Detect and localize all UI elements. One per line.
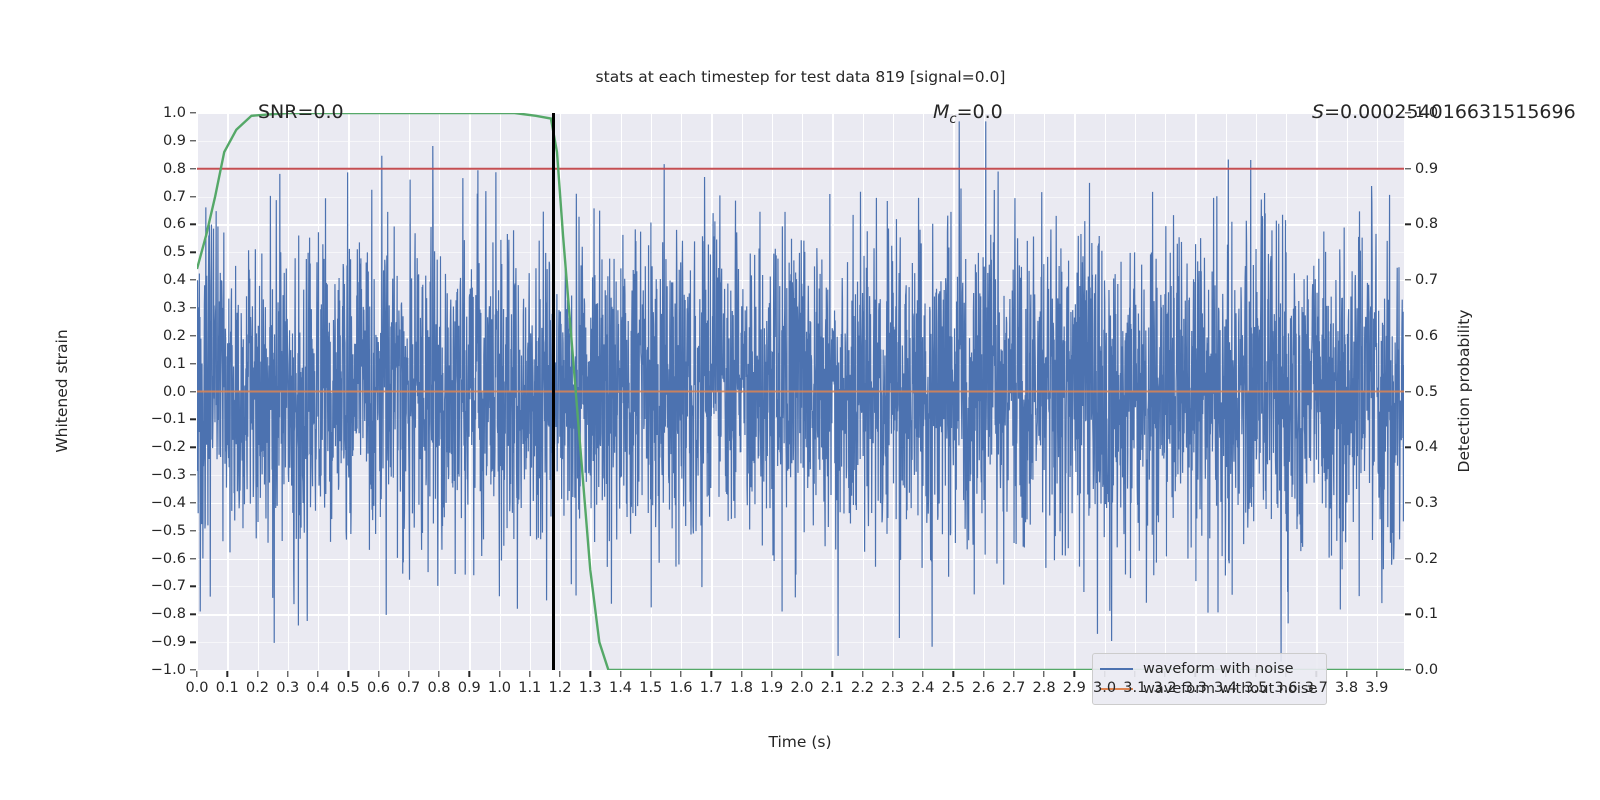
y-axis-right-ticklabel: 0.3 xyxy=(1415,495,1438,511)
x-axis-ticklabel: 3.3 xyxy=(1184,680,1207,696)
x-axis-tick xyxy=(529,671,530,677)
x-axis-tick xyxy=(741,671,742,677)
x-axis-tick xyxy=(862,671,863,677)
y-axis-left-tick xyxy=(190,279,196,280)
matplotlib-figure: stats at each timestep for test data 819… xyxy=(0,0,1600,800)
y-axis-left-tick xyxy=(190,641,196,642)
y-axis-left-tick xyxy=(190,112,196,113)
x-axis-ticklabel: 2.7 xyxy=(1002,680,1025,696)
x-axis-ticklabel: 3.1 xyxy=(1123,680,1146,696)
y-axis-right-ticklabel: 0.4 xyxy=(1415,439,1438,455)
y-axis-left-ticklabel: 1.0 xyxy=(163,105,186,121)
x-axis-ticklabel: 0.8 xyxy=(427,680,450,696)
page-title: stats at each timestep for test data 819… xyxy=(197,68,1404,86)
x-axis-ticklabel: 0.6 xyxy=(367,680,390,696)
y-axis-left-tick xyxy=(190,530,196,531)
x-axis-tick xyxy=(922,671,923,677)
y-axis-left-tick xyxy=(190,335,196,336)
legend[interactable]: waveform with noise waveform without noi… xyxy=(1092,653,1327,705)
y-axis-right-ticklabel: 0.2 xyxy=(1415,551,1438,567)
x-axis-ticklabel: 0.4 xyxy=(306,680,329,696)
y-axis-left-ticklabel: −0.9 xyxy=(151,634,186,650)
y-axis-left-ticklabel: −1.0 xyxy=(151,662,186,678)
x-axis-ticklabel: 1.7 xyxy=(700,680,723,696)
x-axis-ticklabel: 3.4 xyxy=(1214,680,1237,696)
y-axis-left-tick xyxy=(190,586,196,587)
x-axis-tick xyxy=(227,671,228,677)
x-axis-ticklabel: 1.5 xyxy=(639,680,662,696)
y-axis-left-label: Whitened strain xyxy=(53,329,71,452)
x-axis-tick xyxy=(378,671,379,677)
x-axis-tick xyxy=(1043,671,1044,677)
y-axis-left-tick xyxy=(190,391,196,392)
x-axis-ticklabel: 0.9 xyxy=(458,680,481,696)
legend-label: waveform with noise xyxy=(1143,661,1294,677)
x-axis-ticklabel: 1.1 xyxy=(518,680,541,696)
x-axis-tick xyxy=(1074,671,1075,677)
x-axis-ticklabel: 1.0 xyxy=(488,680,511,696)
y-axis-left-ticklabel: 0.3 xyxy=(163,300,186,316)
x-axis-tick xyxy=(559,671,560,677)
x-axis-ticklabel: 2.2 xyxy=(851,680,874,696)
x-axis-ticklabel: 3.6 xyxy=(1274,680,1297,696)
y-axis-right-tick xyxy=(1405,224,1411,225)
x-axis-ticklabel: 2.0 xyxy=(790,680,813,696)
y-axis-left-ticklabel: 0.5 xyxy=(163,244,186,260)
y-axis-left-tick xyxy=(190,252,196,253)
y-axis-left-ticklabel: 0.1 xyxy=(163,356,186,372)
x-axis-ticklabel: 1.4 xyxy=(609,680,632,696)
y-axis-left-ticklabel: −0.1 xyxy=(151,411,186,427)
x-axis-ticklabel: 1.6 xyxy=(669,680,692,696)
annotation-snr: SNR=0.0 xyxy=(258,101,344,123)
merger-time-marker xyxy=(552,113,554,670)
x-axis-tick xyxy=(953,671,954,677)
x-axis-ticklabel: 1.3 xyxy=(579,680,602,696)
x-axis-tick xyxy=(499,671,500,677)
y-axis-right-tick xyxy=(1405,168,1411,169)
x-axis-ticklabel: 3.8 xyxy=(1335,680,1358,696)
chirp-mass-subscript: c xyxy=(949,112,956,127)
x-axis-tick xyxy=(1013,671,1014,677)
y-axis-right-ticklabel: 0.1 xyxy=(1415,606,1438,622)
legend-item-waveform-with-noise[interactable]: waveform with noise xyxy=(1100,659,1317,679)
y-axis-left-tick xyxy=(190,419,196,420)
annotation-statistic: S=0.000254016631515696 xyxy=(1312,101,1576,123)
x-axis-tick xyxy=(257,671,258,677)
y-axis-left-ticklabel: −0.7 xyxy=(151,578,186,594)
y-axis-left-tick xyxy=(190,614,196,615)
x-axis-tick xyxy=(408,671,409,677)
x-axis-ticklabel: 3.0 xyxy=(1093,680,1116,696)
y-axis-left-ticklabel: 0.8 xyxy=(163,161,186,177)
chirp-mass-value: =0.0 xyxy=(957,101,1003,123)
x-axis-tick xyxy=(832,671,833,677)
y-axis-left-ticklabel: −0.3 xyxy=(151,467,186,483)
x-axis-ticklabel: 3.2 xyxy=(1153,680,1176,696)
y-axis-left-ticklabel: −0.6 xyxy=(151,551,186,567)
x-axis-ticklabel: 0.0 xyxy=(185,680,208,696)
x-axis-ticklabel: 1.2 xyxy=(548,680,571,696)
y-axis-right-tick xyxy=(1405,614,1411,615)
y-axis-left-ticklabel: 0.4 xyxy=(163,272,186,288)
x-axis-ticklabel: 2.1 xyxy=(821,680,844,696)
x-axis-label: Time (s) xyxy=(768,733,831,751)
x-axis-ticklabel: 3.7 xyxy=(1305,680,1328,696)
y-axis-right-ticklabel: 1.0 xyxy=(1415,105,1438,121)
y-axis-right-ticklabel: 0.8 xyxy=(1415,216,1438,232)
y-axis-left-tick xyxy=(190,474,196,475)
statistic-value: =0.000254016631515696 xyxy=(1324,101,1576,123)
y-axis-left-ticklabel: 0.7 xyxy=(163,189,186,205)
x-axis-ticklabel: 3.5 xyxy=(1244,680,1267,696)
y-axis-left-tick xyxy=(190,196,196,197)
y-axis-left-tick xyxy=(190,307,196,308)
y-axis-right-ticklabel: 0.6 xyxy=(1415,328,1438,344)
y-axis-left-tick xyxy=(190,558,196,559)
legend-swatch-icon xyxy=(1100,668,1133,670)
y-axis-left-ticklabel: −0.5 xyxy=(151,523,186,539)
y-axis-left-tick xyxy=(190,363,196,364)
y-axis-right-tick xyxy=(1405,335,1411,336)
plot-area xyxy=(197,113,1404,670)
x-axis-ticklabel: 0.3 xyxy=(276,680,299,696)
x-axis-tick xyxy=(590,671,591,677)
x-axis-tick xyxy=(348,671,349,677)
x-axis-tick xyxy=(711,671,712,677)
y-axis-left-ticklabel: 0.9 xyxy=(163,133,186,149)
y-axis-left-tick xyxy=(190,140,196,141)
x-axis-ticklabel: 0.5 xyxy=(337,680,360,696)
y-axis-left-tick xyxy=(190,502,196,503)
x-axis-tick xyxy=(196,671,197,677)
annotation-chirp-mass: Mc=0.0 xyxy=(933,101,1003,127)
x-axis-tick xyxy=(317,671,318,677)
y-axis-right-tick xyxy=(1405,669,1411,670)
x-axis-ticklabel: 2.9 xyxy=(1063,680,1086,696)
y-axis-right-ticklabel: 0.7 xyxy=(1415,272,1438,288)
y-axis-right-ticklabel: 0.5 xyxy=(1415,384,1438,400)
x-axis-tick xyxy=(650,671,651,677)
x-axis-tick xyxy=(287,671,288,677)
y-axis-left-tick xyxy=(190,669,196,670)
y-axis-left-ticklabel: −0.2 xyxy=(151,439,186,455)
y-axis-right-tick xyxy=(1405,446,1411,447)
y-axis-right-tick xyxy=(1405,502,1411,503)
y-axis-right-tick xyxy=(1405,558,1411,559)
x-axis-ticklabel: 2.4 xyxy=(911,680,934,696)
waveform-canvas xyxy=(197,113,1404,670)
chirp-mass-symbol: M xyxy=(933,101,949,123)
y-axis-left-tick xyxy=(190,446,196,447)
x-axis-ticklabel: 0.1 xyxy=(216,680,239,696)
statistic-symbol: S xyxy=(1312,101,1324,123)
x-axis-ticklabel: 1.8 xyxy=(730,680,753,696)
x-axis-tick xyxy=(771,671,772,677)
x-axis-tick xyxy=(1376,671,1377,677)
y-axis-right-ticklabel: 0.0 xyxy=(1415,662,1438,678)
x-axis-ticklabel: 1.9 xyxy=(760,680,783,696)
x-axis-ticklabel: 3.9 xyxy=(1365,680,1388,696)
x-axis-tick xyxy=(801,671,802,677)
y-axis-left-ticklabel: −0.8 xyxy=(151,606,186,622)
x-axis-ticklabel: 2.5 xyxy=(942,680,965,696)
x-axis-tick xyxy=(680,671,681,677)
y-axis-left-ticklabel: −0.4 xyxy=(151,495,186,511)
y-axis-left-ticklabel: 0.2 xyxy=(163,328,186,344)
x-axis-tick xyxy=(983,671,984,677)
x-axis-ticklabel: 2.8 xyxy=(1032,680,1055,696)
x-axis-tick xyxy=(1346,671,1347,677)
x-axis-ticklabel: 0.2 xyxy=(246,680,269,696)
x-axis-tick xyxy=(620,671,621,677)
x-axis-ticklabel: 2.3 xyxy=(881,680,904,696)
y-axis-right-tick xyxy=(1405,279,1411,280)
y-axis-right-tick xyxy=(1405,391,1411,392)
y-axis-right-ticklabel: 0.9 xyxy=(1415,161,1438,177)
x-axis-tick xyxy=(469,671,470,677)
x-axis-tick xyxy=(892,671,893,677)
y-axis-left-tick xyxy=(190,168,196,169)
x-axis-tick xyxy=(438,671,439,677)
x-axis-ticklabel: 0.7 xyxy=(397,680,420,696)
x-axis-ticklabel: 2.6 xyxy=(972,680,995,696)
y-axis-left-tick xyxy=(190,224,196,225)
y-axis-left-ticklabel: 0.0 xyxy=(163,384,186,400)
y-axis-right-label: Detection probability xyxy=(1455,310,1473,473)
y-axis-left-ticklabel: 0.6 xyxy=(163,216,186,232)
